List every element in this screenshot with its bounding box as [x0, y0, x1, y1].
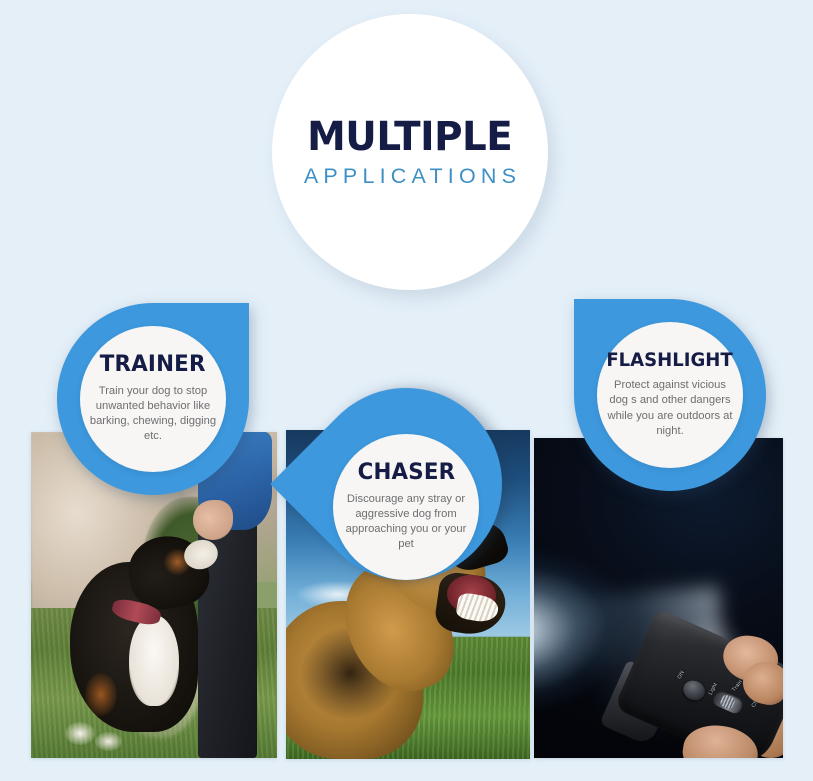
photo-person-hand [193, 500, 232, 539]
photo-dog-tan-marking [85, 673, 117, 715]
card-title-trainer: TRAINER [100, 353, 206, 376]
page-title: MULTIPLE [307, 117, 512, 157]
card-flashlight[interactable]: FLASHLIGHT Protect against vicious dog s… [597, 322, 743, 468]
card-description-trainer: Train your dog to stop unwanted behavior… [87, 384, 219, 445]
hero-badge: MULTIPLE APPLICATIONS [272, 14, 548, 290]
promo-graphic: MULTIPLE APPLICATIONS [0, 0, 813, 781]
photo-dog-paw-left [65, 722, 95, 745]
card-description-flashlight: Protect against vicious dog s and other … [604, 378, 736, 439]
card-description-chaser: Discourage any stray or aggressive dog f… [340, 492, 472, 553]
card-title-chaser: CHASER [357, 461, 455, 484]
card-chaser[interactable]: CHASER Discourage any stray or aggressiv… [333, 434, 479, 580]
card-trainer[interactable]: TRAINER Train your dog to stop unwanted … [80, 326, 226, 472]
photo-dog-chest [129, 615, 178, 706]
page-subtitle: APPLICATIONS [299, 166, 521, 188]
card-title-flashlight: FLASHLIGHT [607, 351, 733, 370]
